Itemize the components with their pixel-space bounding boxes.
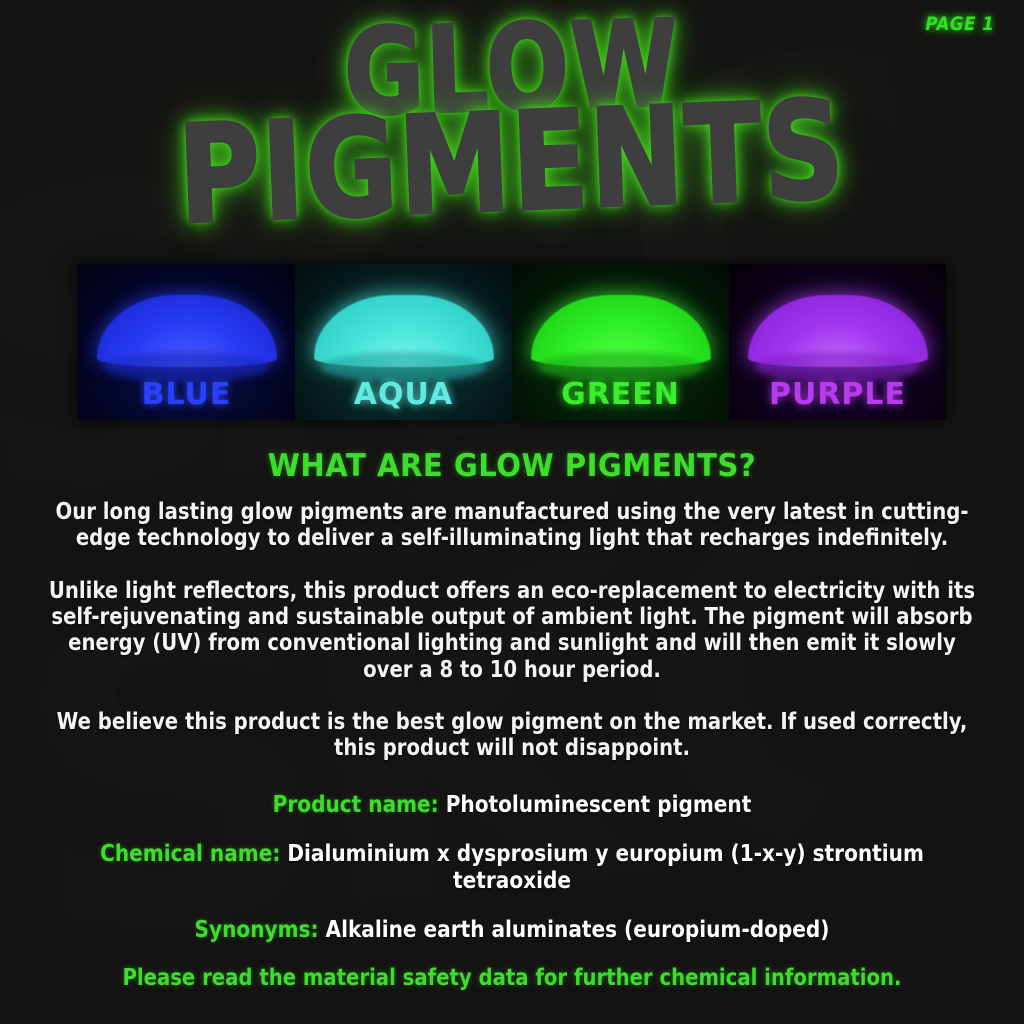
powder-pile-icon xyxy=(97,295,277,367)
swatch-label-blue: BLUE xyxy=(78,377,295,412)
powder-pile-icon xyxy=(531,295,711,367)
swatch-label-purple: PURPLE xyxy=(729,377,946,412)
powder-pile-icon xyxy=(314,295,494,367)
content-body: WHAT ARE GLOW PIGMENTS? Our long lasting… xyxy=(0,448,1024,991)
spec-value-product-name: Photoluminescent pigment xyxy=(446,790,752,818)
powder-pile-icon xyxy=(748,295,928,367)
spec-chemical-name: Chemical name: Dialuminium x dysprosium … xyxy=(39,840,985,894)
swatch-label-aqua: AQUA xyxy=(295,377,512,412)
page-title: GLOW PIGMENTS xyxy=(0,26,1024,210)
spec-value-synonyms: Alkaline earth aluminates (europium-dope… xyxy=(326,915,830,943)
swatch-label-green: GREEN xyxy=(512,377,729,412)
spec-label-chemical-name: Chemical name: xyxy=(100,839,280,867)
paragraph-2: Unlike light reflectors, this product of… xyxy=(49,577,975,682)
swatch-purple[interactable]: PURPLE xyxy=(729,264,946,420)
swatch-aqua[interactable]: AQUA xyxy=(295,264,512,420)
page-root: S K C S K C PAGE 1 GLOW PIGMENTS BLUE AQ… xyxy=(0,0,1024,1024)
safety-footnote: Please read the material safety data for… xyxy=(39,965,985,991)
spec-synonyms: Synonyms: Alkaline earth aluminates (eur… xyxy=(39,916,985,943)
spec-label-synonyms: Synonyms: xyxy=(195,915,319,943)
spec-product-name: Product name: Photoluminescent pigment xyxy=(39,791,985,818)
paragraph-1: Our long lasting glow pigments are manuf… xyxy=(49,498,975,551)
swatch-blue[interactable]: BLUE xyxy=(78,264,295,420)
spec-label-product-name: Product name: xyxy=(273,790,439,818)
spec-value-chemical-name: Dialuminium x dysprosium y europium (1-x… xyxy=(287,839,924,894)
paragraph-3: We believe this product is the best glow… xyxy=(49,708,975,761)
color-swatch-strip: BLUE AQUA GREEN PURPLE xyxy=(78,264,946,420)
swatch-green[interactable]: GREEN xyxy=(512,264,729,420)
section-heading: WHAT ARE GLOW PIGMENTS? xyxy=(44,448,980,484)
